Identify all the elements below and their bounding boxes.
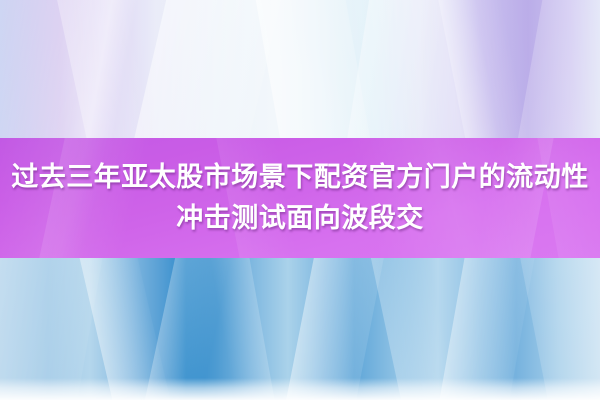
prism-shard-top-2 (57, 0, 157, 140)
prism-shard-top-7 (518, 0, 600, 140)
title-band: 过去三年亚太股市场景下配资官方门户的流动性冲击测试面向波段交 (0, 138, 600, 258)
prism-shard-bottom-8 (520, 258, 600, 400)
prism-shard-bottom-2 (80, 258, 171, 400)
prism-shard-bottom-6 (371, 258, 459, 400)
prism-shard-top-6 (438, 0, 529, 140)
prism-shard-bottom-4 (209, 258, 274, 400)
prism-shard-bottom-7 (439, 258, 534, 400)
prism-shard-top-1 (0, 0, 94, 140)
bottom-gradient-background (0, 258, 600, 400)
page-title: 过去三年亚太股市场景下配资官方门户的流动性冲击测试面向波段交 (10, 157, 590, 239)
prism-shard-top-5 (347, 0, 449, 140)
top-gradient-background (0, 0, 600, 140)
prism-shard-top-4 (256, 0, 371, 140)
prism-shard-bottom-5 (286, 258, 384, 400)
prism-shard-top-3 (134, 0, 281, 140)
bottom-white-fade (0, 378, 600, 400)
prism-shard-bottom-1 (0, 258, 103, 400)
prism-shard-bottom-3 (145, 258, 231, 400)
decorative-title-banner: 过去三年亚太股市场景下配资官方门户的流动性冲击测试面向波段交 (0, 0, 600, 400)
